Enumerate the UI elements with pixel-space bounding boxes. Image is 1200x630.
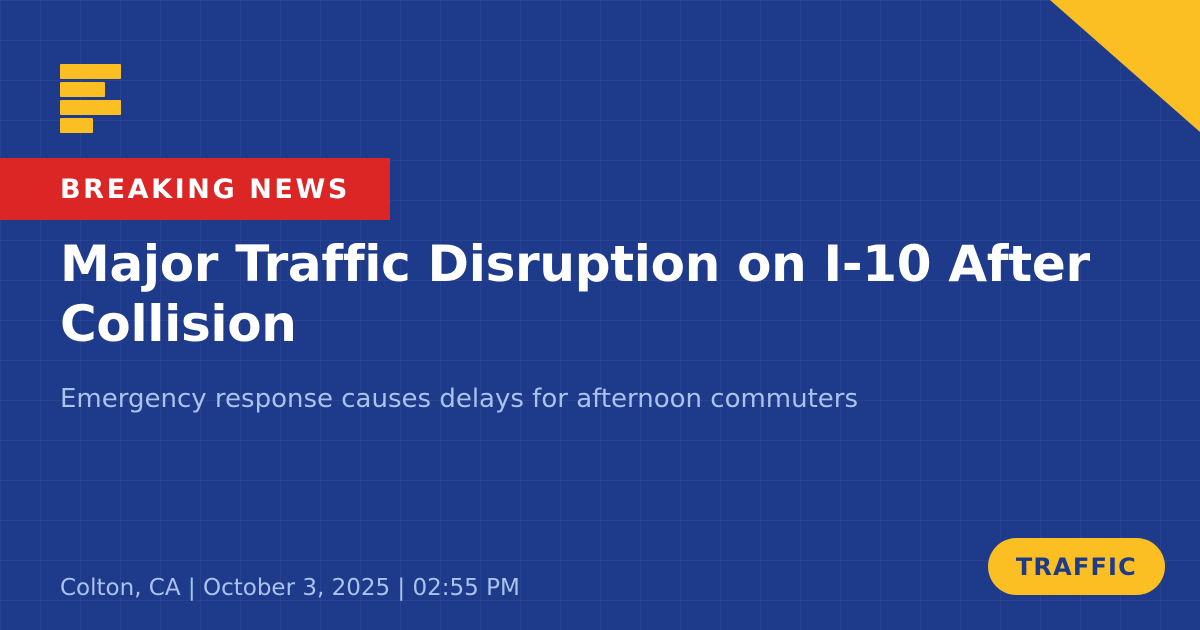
- logo-bar-4: [60, 118, 93, 133]
- category-badge-label: TRAFFIC: [1016, 555, 1137, 579]
- meta-line: Colton, CA | October 3, 2025 | 02:55 PM: [60, 574, 520, 602]
- corner-wedge-triangle-icon: [1050, 0, 1200, 132]
- breaking-news-badge: BREAKING NEWS: [0, 158, 390, 220]
- brand-logo: [60, 64, 140, 133]
- logo-bar-2: [60, 82, 105, 97]
- breaking-news-badge-label: BREAKING NEWS: [60, 176, 350, 203]
- headline-text: Major Traffic Disruption on I-10 After C…: [60, 234, 1135, 354]
- logo-bar-1: [60, 64, 121, 79]
- logo-bar-3: [60, 100, 121, 115]
- breaking-news-card: BREAKING NEWS Major Traffic Disruption o…: [0, 0, 1200, 630]
- category-badge: TRAFFIC: [988, 538, 1165, 595]
- subtitle-text: Emergency response causes delays for aft…: [60, 382, 1060, 416]
